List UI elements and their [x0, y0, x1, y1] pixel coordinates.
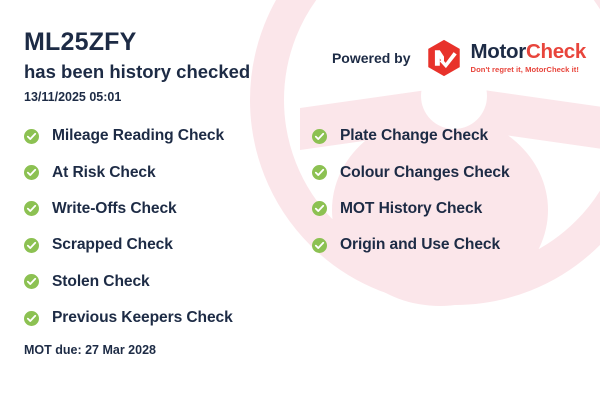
green-check-circle-icon [312, 165, 327, 180]
green-check-circle-icon [312, 129, 327, 144]
motorcheck-wordmark: MotorCheck Don't regret it, MotorCheck i… [471, 42, 586, 73]
powered-by-block: Powered by MotorCheck Don't regret it, M… [332, 38, 586, 78]
checks-left-column: Mileage Reading Check At Risk Check Writ… [24, 118, 312, 336]
page-title: ML25ZFY [24, 28, 250, 58]
header-subtitle: has been history checked [24, 61, 250, 83]
motorcheck-hexagon-logo-icon [424, 38, 464, 78]
brand-tagline: Don't regret it, MotorCheck it! [471, 66, 586, 74]
check-label: Colour Changes Check [340, 164, 510, 182]
powered-by-label: Powered by [332, 50, 411, 66]
green-check-circle-icon [312, 201, 327, 216]
list-item: Stolen Check [24, 264, 312, 300]
history-check-badge: ML25ZFY has been history checked 13/11/2… [0, 0, 600, 400]
mot-due-text: MOT due: 27 Mar 2028 [24, 343, 156, 357]
check-label: At Risk Check [52, 164, 156, 182]
check-label: Plate Change Check [340, 127, 488, 145]
green-check-circle-icon [24, 201, 39, 216]
brand-word-check: Check [526, 40, 586, 63]
green-check-circle-icon [312, 238, 327, 253]
list-item: Mileage Reading Check [24, 118, 312, 154]
check-label: Previous Keepers Check [52, 309, 233, 327]
check-label: Mileage Reading Check [52, 127, 224, 145]
check-timestamp: 13/11/2025 05:01 [24, 90, 250, 104]
list-item: Write-Offs Check [24, 191, 312, 227]
green-check-circle-icon [24, 311, 39, 326]
check-label: Scrapped Check [52, 236, 173, 254]
check-label: Write-Offs Check [52, 200, 177, 218]
footer: MOT due: 27 Mar 2028 [24, 341, 156, 359]
checks-right-column: Plate Change Check Colour Changes Check … [312, 118, 580, 336]
check-label: MOT History Check [340, 200, 482, 218]
list-item: Colour Changes Check [312, 154, 580, 190]
header: ML25ZFY has been history checked 13/11/2… [24, 28, 250, 104]
list-item: Scrapped Check [24, 227, 312, 263]
list-item: MOT History Check [312, 191, 580, 227]
brand-word-motor: Motor [471, 40, 526, 63]
green-check-circle-icon [24, 238, 39, 253]
green-check-circle-icon [24, 129, 39, 144]
list-item: Origin and Use Check [312, 227, 580, 263]
check-label: Stolen Check [52, 273, 150, 291]
list-item: Plate Change Check [312, 118, 580, 154]
checks-section: Mileage Reading Check At Risk Check Writ… [24, 118, 580, 336]
list-item: Previous Keepers Check [24, 300, 312, 336]
green-check-circle-icon [24, 274, 39, 289]
list-item: At Risk Check [24, 154, 312, 190]
brand-wordmark: MotorCheck [471, 42, 586, 63]
green-check-circle-icon [24, 165, 39, 180]
check-label: Origin and Use Check [340, 236, 500, 254]
